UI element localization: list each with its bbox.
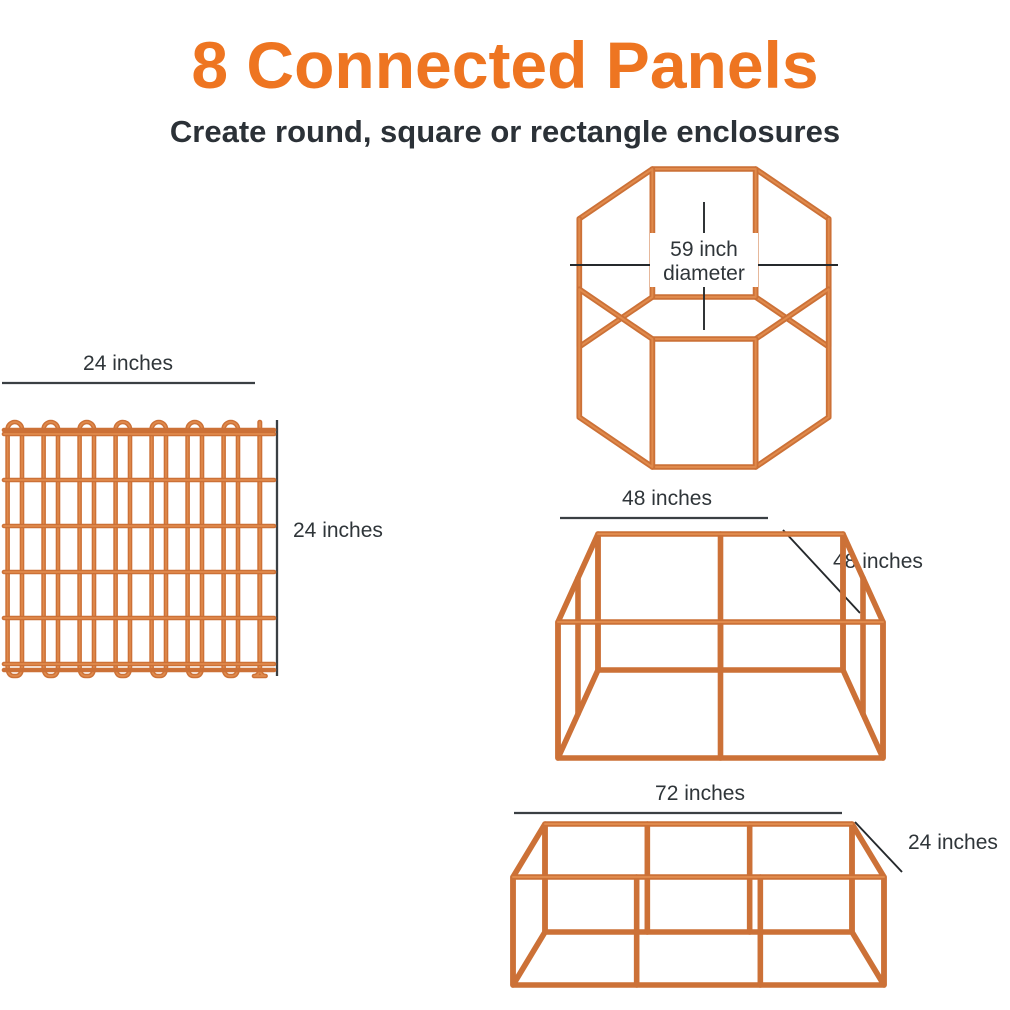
octagon-diameter-label-line1: 59 inch: [670, 238, 738, 261]
flat-panel-width-label: 24 inches: [83, 352, 173, 375]
page-title: 8 Connected Panels: [191, 28, 818, 102]
square-width-label: 48 inches: [622, 487, 712, 510]
rectangle-depth-label: 24 inches: [908, 831, 998, 854]
infographic-canvas: 8 Connected Panels Create round, square …: [0, 0, 1010, 1010]
octagon-diameter-label-line2: diameter: [663, 262, 745, 285]
rectangle-width-label: 72 inches: [655, 782, 745, 805]
flat-panel-height-label: 24 inches: [293, 519, 383, 542]
square-depth-label: 48 inches: [833, 550, 923, 573]
page-subtitle: Create round, square or rectangle enclos…: [170, 114, 840, 149]
